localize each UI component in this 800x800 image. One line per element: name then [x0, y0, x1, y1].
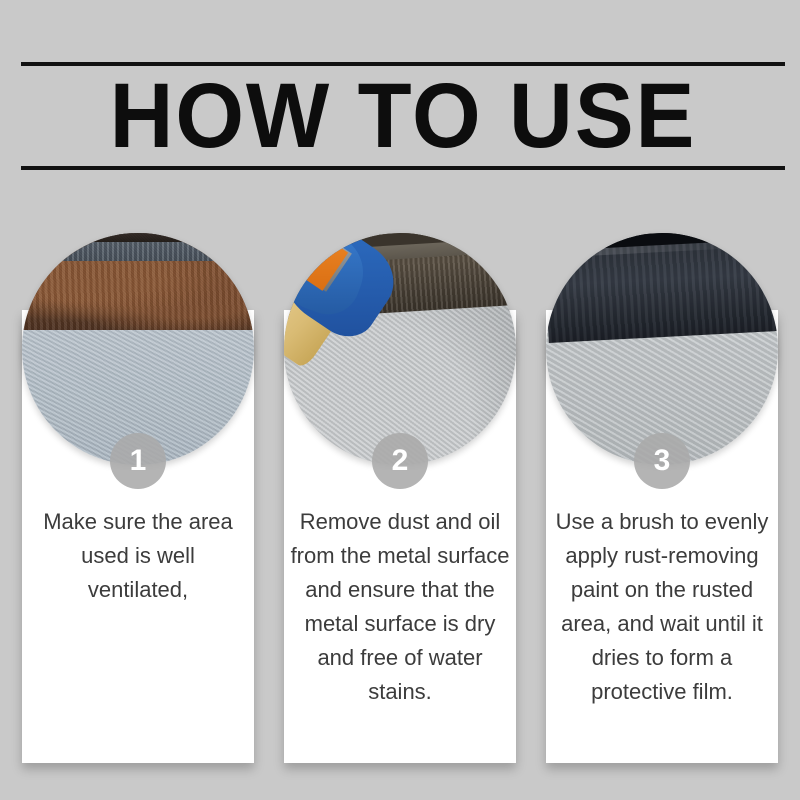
title-block: HOW TO USE	[21, 62, 785, 170]
step-number-badge-2: 2	[372, 433, 428, 489]
step-number-badge-3: 3	[634, 433, 690, 489]
steps-row: 1 Make sure the area used is well ventil…	[22, 233, 778, 465]
step-card-3: 3 Use a brush to evenly apply rust-remov…	[546, 233, 778, 465]
step-caption-3: Use a brush to evenly apply rust-removin…	[546, 505, 778, 709]
step-number-badge-1: 1	[110, 433, 166, 489]
step-3-photo	[546, 233, 778, 465]
step-card-1: 1 Make sure the area used is well ventil…	[22, 233, 254, 465]
photo-grain-layer	[22, 233, 254, 465]
step-caption-2: Remove dust and oil from the metal surfa…	[284, 505, 516, 709]
step-1-photo	[22, 233, 254, 465]
step-2-photo	[284, 233, 516, 465]
step-card-2: 2 Remove dust and oil from the metal sur…	[284, 233, 516, 465]
step-caption-1: Make sure the area used is well ventilat…	[22, 505, 254, 607]
page-title: HOW TO USE	[36, 74, 769, 160]
